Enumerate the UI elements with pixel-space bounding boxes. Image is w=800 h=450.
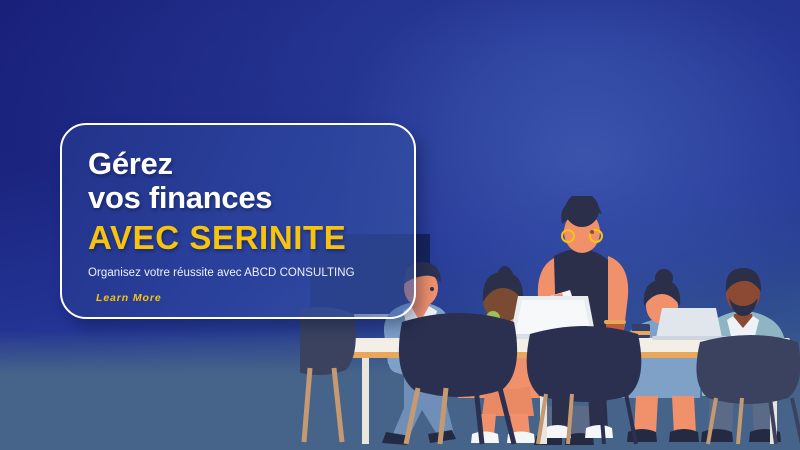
headline-line-2: vos finances [88, 181, 414, 215]
page-title: Gérez vos finances AVEC SERINITE [88, 147, 414, 256]
office-chair-front-far-right [696, 335, 800, 444]
headline-card: Gérez vos finances AVEC SERINITE Organis… [60, 123, 416, 319]
office-chair-front-left [300, 307, 356, 442]
office-chair-front-center [399, 313, 517, 444]
learn-more-link[interactable]: Learn More [96, 292, 162, 304]
headline-card-content: Gérez vos finances AVEC SERINITE Organis… [62, 125, 414, 306]
laptop-open-icon-2 [652, 308, 728, 340]
headline-line-1: Gérez [88, 146, 173, 181]
promo-banner: Gérez vos finances AVEC SERINITE Organis… [0, 0, 800, 450]
subtitle: Organisez votre réussite avec ABCD CONSU… [88, 267, 414, 279]
headline-accent: AVEC SERINITE [88, 220, 414, 256]
